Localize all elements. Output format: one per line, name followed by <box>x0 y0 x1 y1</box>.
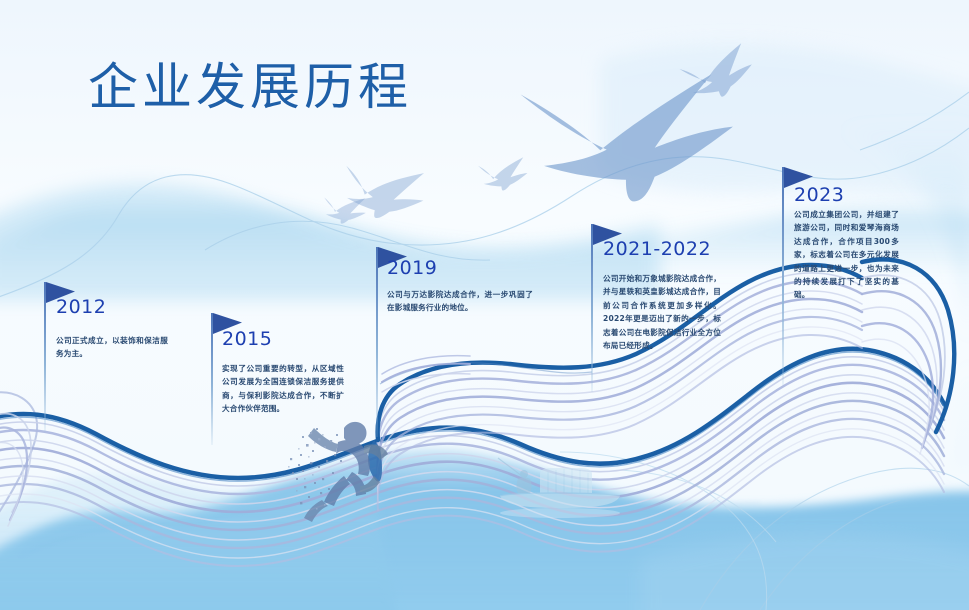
milestone-year-2021-2022: 2021-2022 <box>603 238 711 260</box>
milestone-year-2023: 2023 <box>794 184 844 206</box>
flag-pole-2023 <box>782 167 784 385</box>
milestone-description-2019: 公司与万达影院达成合作，进一步巩固了在影城服务行业的地位。 <box>387 288 533 315</box>
milestone-description-2015: 实现了公司重要的转型，从区域性公司发展为全国连锁保洁服务提供商，与保利影院达成合… <box>222 362 344 416</box>
milestone-year-2019: 2019 <box>387 257 437 279</box>
milestone-description-2023: 公司成立集团公司，并组建了旅游公司，同时和爱琴海商场达成合作，合作项目300多家… <box>794 208 899 302</box>
flag-pole-2019 <box>376 247 378 437</box>
infographic-canvas: 企业发展历程 2012公司正式成立，以装饰和保洁服务为主。2015实现了公司重要… <box>0 0 969 610</box>
milestone-year-2015: 2015 <box>222 328 272 350</box>
milestone-description-2012: 公司正式成立，以装饰和保洁服务为主。 <box>56 334 168 361</box>
timeline-milestones: 2012公司正式成立，以装饰和保洁服务为主。2015实现了公司重要的转型，从区域… <box>0 0 969 610</box>
milestone-year-2012: 2012 <box>56 296 106 318</box>
milestone-description-2021-2022: 公司开始和万象城影院达成合作，并与星轶和英皇影城达成合作，目前公司合作系统更加多… <box>603 272 721 352</box>
flag-pole-2012 <box>44 282 46 432</box>
flag-pole-2021-2022 <box>591 224 593 392</box>
